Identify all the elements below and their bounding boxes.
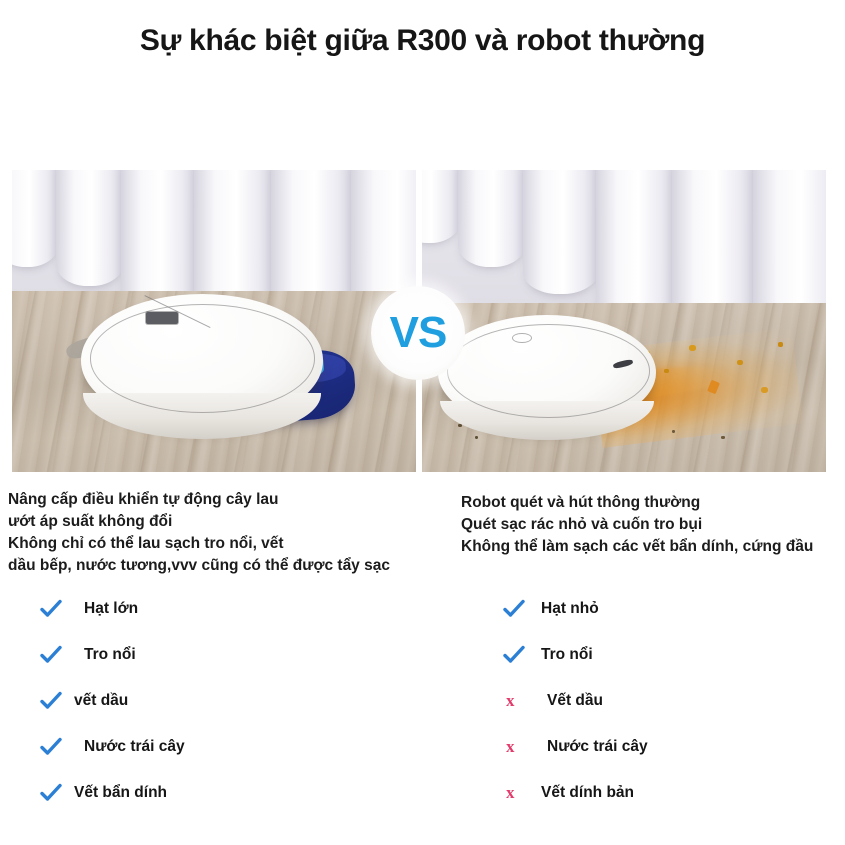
vs-label: VS xyxy=(390,311,447,355)
feature-row: Hạt nhỏ xyxy=(503,586,833,632)
check-icon xyxy=(503,599,533,619)
cross-icon: x xyxy=(503,691,533,711)
feature-label: Nước trái cây xyxy=(70,738,185,756)
feature-row: Tro nổi xyxy=(503,632,833,678)
curtain-panel xyxy=(458,170,527,267)
feature-label: Vết dính bản xyxy=(533,784,634,802)
curtain-panel xyxy=(523,170,600,294)
product-comparison-page: Sự khác biệt giữa R300 và robot thường xyxy=(0,0,845,845)
photo-left-r300-robot xyxy=(12,170,416,472)
photo-right-ordinary-robot xyxy=(422,170,826,472)
debris-crumb xyxy=(778,342,783,347)
check-icon xyxy=(40,599,70,619)
curtain-panel xyxy=(56,170,125,286)
description-left: Nâng cấp điều khiển tự động cây lau ướt … xyxy=(8,489,438,577)
curtain-panel xyxy=(422,170,462,243)
robot-top-ring xyxy=(90,304,315,412)
cross-icon: x xyxy=(503,783,533,803)
feature-row: Nước trái cây xyxy=(40,724,370,770)
feature-row: x Vết dầu xyxy=(503,678,833,724)
curtain-panel xyxy=(121,170,198,309)
vs-badge: VS xyxy=(371,286,465,380)
feature-list-left: Hạt lớn Tro nổi vết dầu Nước trái cây Vế… xyxy=(40,586,370,816)
robot-top-ring xyxy=(447,324,650,418)
feature-row: x Nước trái cây xyxy=(503,724,833,770)
check-icon xyxy=(503,645,533,665)
curtain-panel xyxy=(596,170,677,321)
debris-crumb xyxy=(689,345,696,351)
robot-sensor-module xyxy=(146,312,178,324)
page-title: Sự khác biệt giữa R300 và robot thường xyxy=(0,24,845,58)
feature-label: Tro nổi xyxy=(533,646,593,664)
feature-label: Nước trái cây xyxy=(533,738,648,756)
feature-row: Hạt lớn xyxy=(40,586,370,632)
curtain-panel xyxy=(12,170,60,267)
feature-label: Tro nổi xyxy=(70,646,136,664)
feature-row: x Vết dính bản xyxy=(503,770,833,816)
description-right: Robot quét và hút thông thường Quét sạc … xyxy=(461,492,845,558)
debris-crumb xyxy=(475,436,478,439)
robot-r300 xyxy=(81,294,323,427)
check-icon xyxy=(40,737,70,757)
feature-row: Tro nổi xyxy=(40,632,370,678)
feature-label: vết dầu xyxy=(70,692,128,710)
feature-row: Vết bẩn dính xyxy=(40,770,370,816)
feature-row: vết dầu xyxy=(40,678,370,724)
feature-label: Vết dầu xyxy=(533,692,603,710)
check-icon xyxy=(40,645,70,665)
feature-list-right: Hạt nhỏ Tro nổi x Vết dầu x Nước trái câ… xyxy=(503,586,833,816)
robot-ordinary xyxy=(438,315,656,430)
feature-label: Vết bẩn dính xyxy=(70,784,167,802)
debris-crumb xyxy=(721,436,725,439)
check-icon xyxy=(40,783,70,803)
feature-label: Hạt lớn xyxy=(70,600,138,618)
cross-icon: x xyxy=(503,737,533,757)
feature-label: Hạt nhỏ xyxy=(533,600,599,618)
check-icon xyxy=(40,691,70,711)
